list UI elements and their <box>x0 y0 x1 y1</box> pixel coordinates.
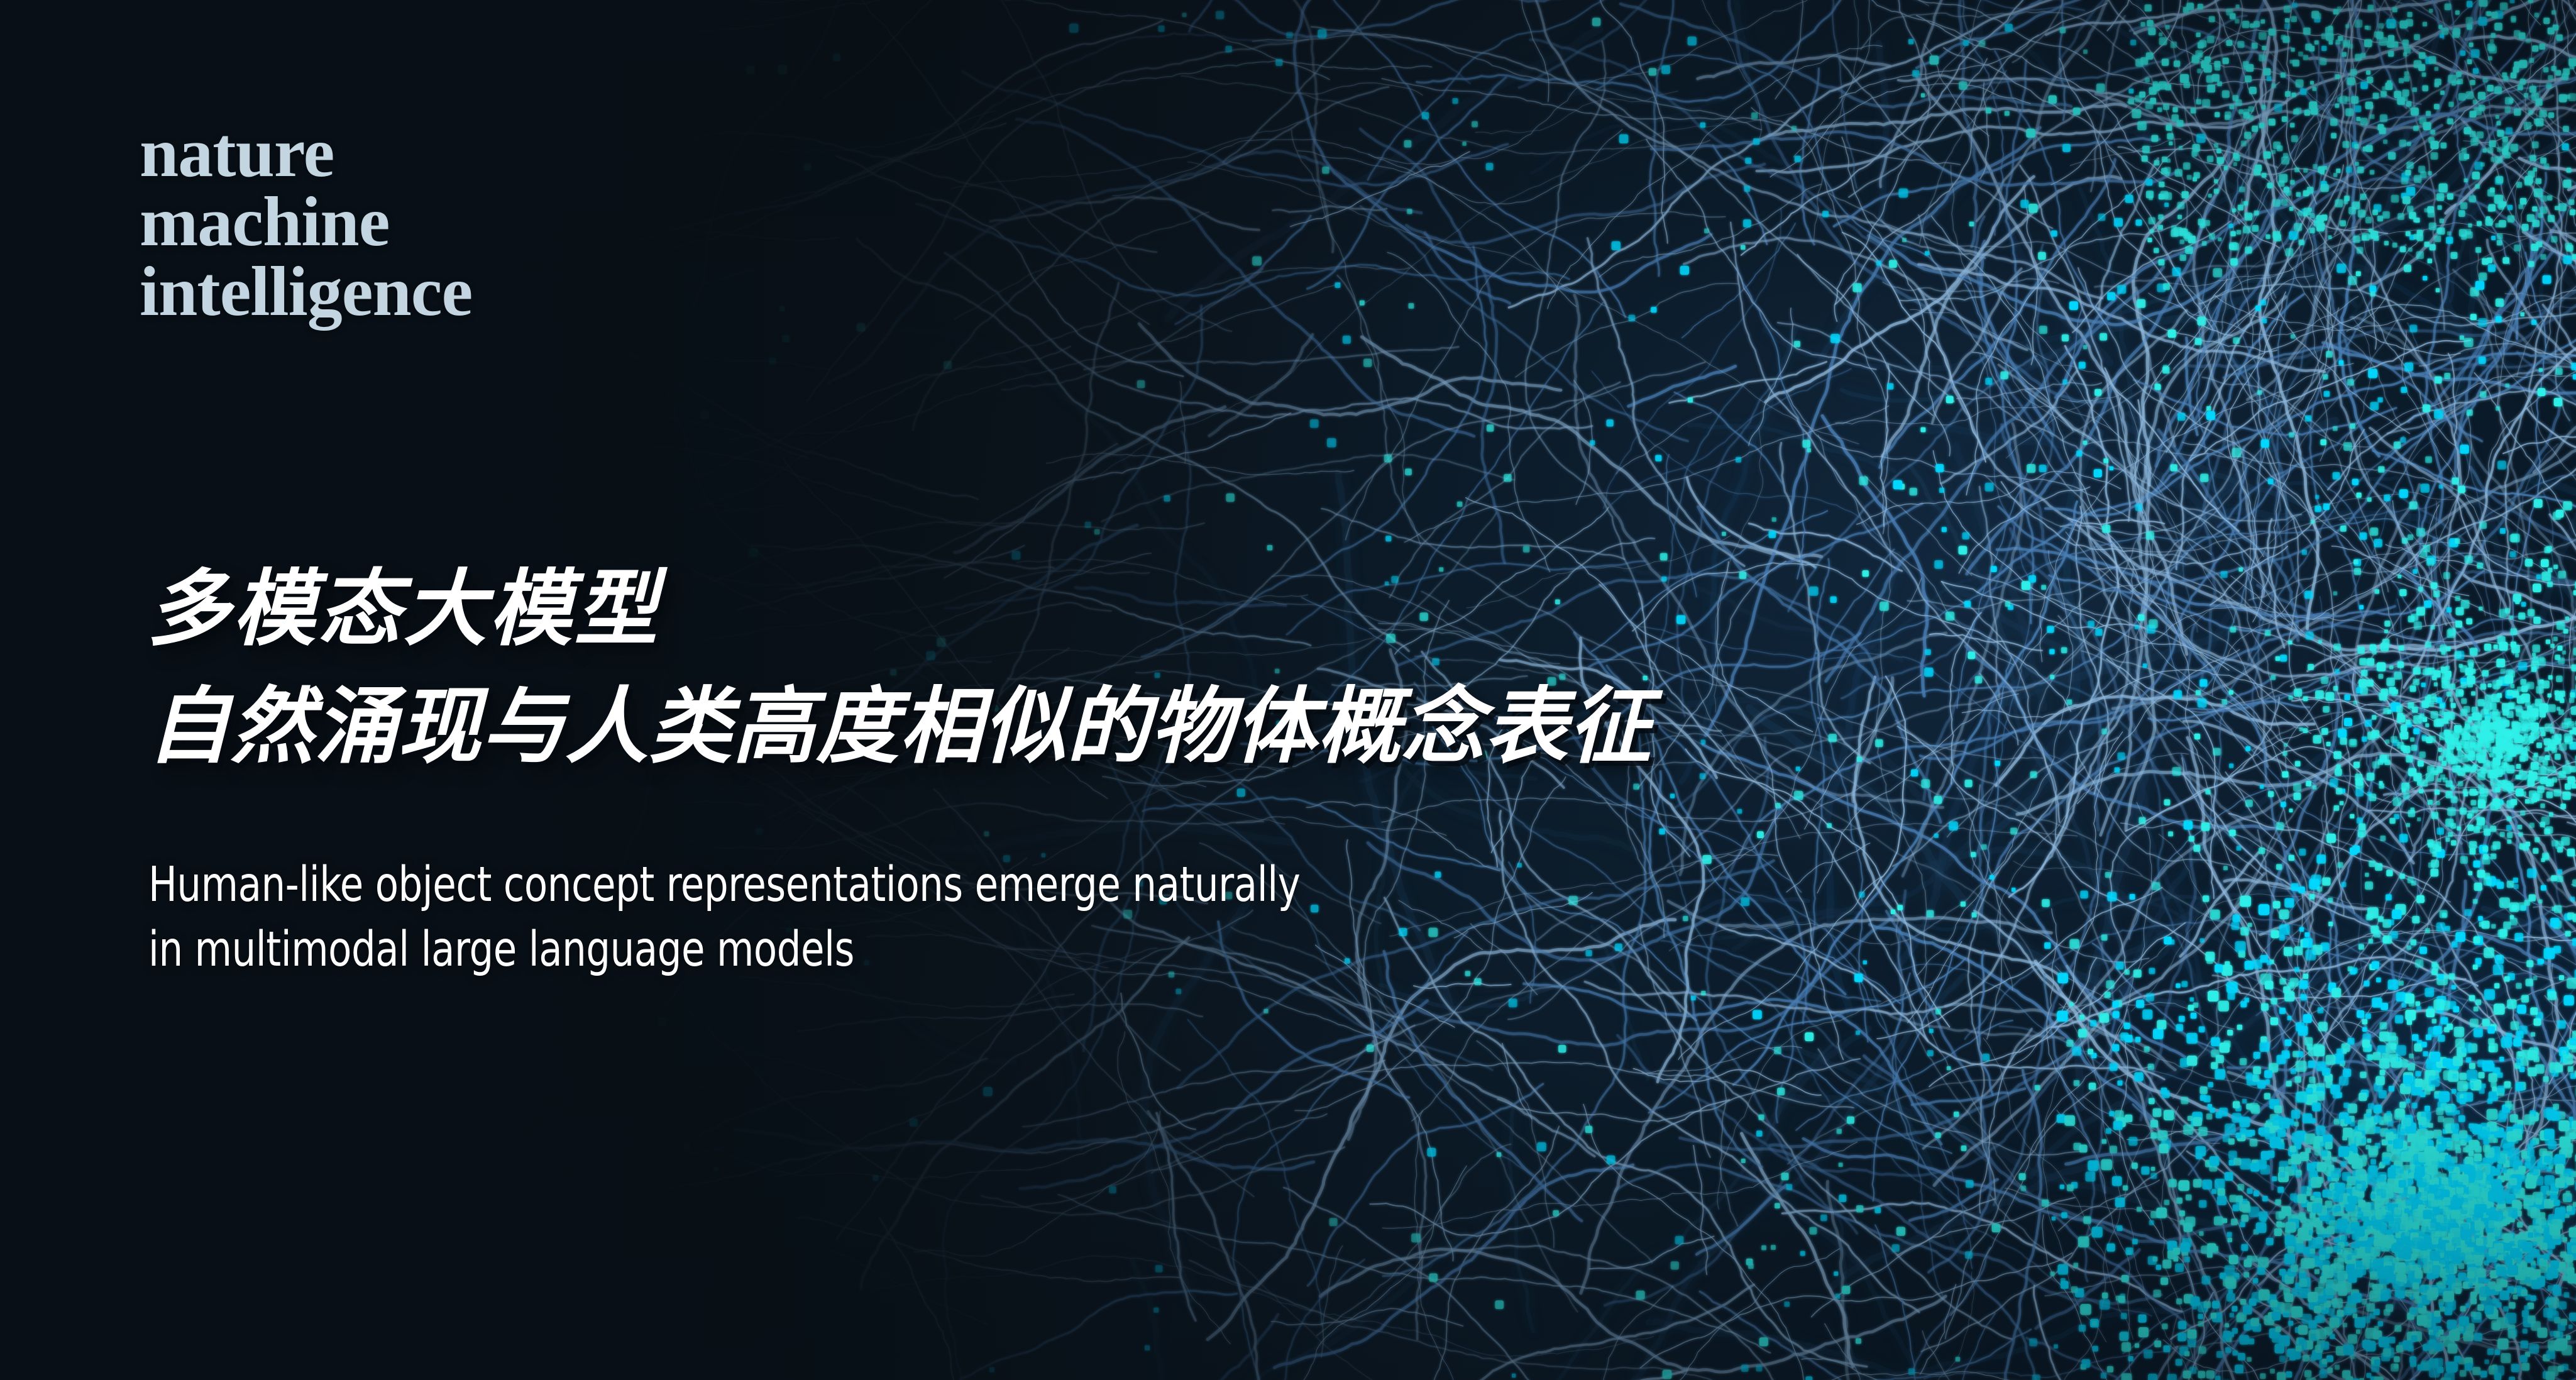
english-subtitle-line-1: Human-like object concept representation… <box>148 853 1300 917</box>
masthead-line-machine: machine <box>140 187 472 257</box>
english-subtitle: Human-like object concept representation… <box>148 853 1300 982</box>
journal-cover-poster: nature machine intelligence 多模态大模型 自然涌现与… <box>0 0 2576 1380</box>
poster-content: nature machine intelligence 多模态大模型 自然涌现与… <box>0 0 2576 1380</box>
chinese-headline-line-2: 自然涌现与人类高度相似的物体概念表征 <box>147 668 1652 786</box>
masthead-line-intelligence: intelligence <box>140 257 472 326</box>
chinese-headline-line-1: 多模态大模型 <box>147 551 1652 668</box>
chinese-headline: 多模态大模型 自然涌现与人类高度相似的物体概念表征 <box>147 551 1652 787</box>
journal-masthead: nature machine intelligence <box>140 118 472 326</box>
masthead-line-nature: nature <box>140 118 472 187</box>
english-subtitle-line-2: in multimodal large language models <box>148 917 1300 982</box>
